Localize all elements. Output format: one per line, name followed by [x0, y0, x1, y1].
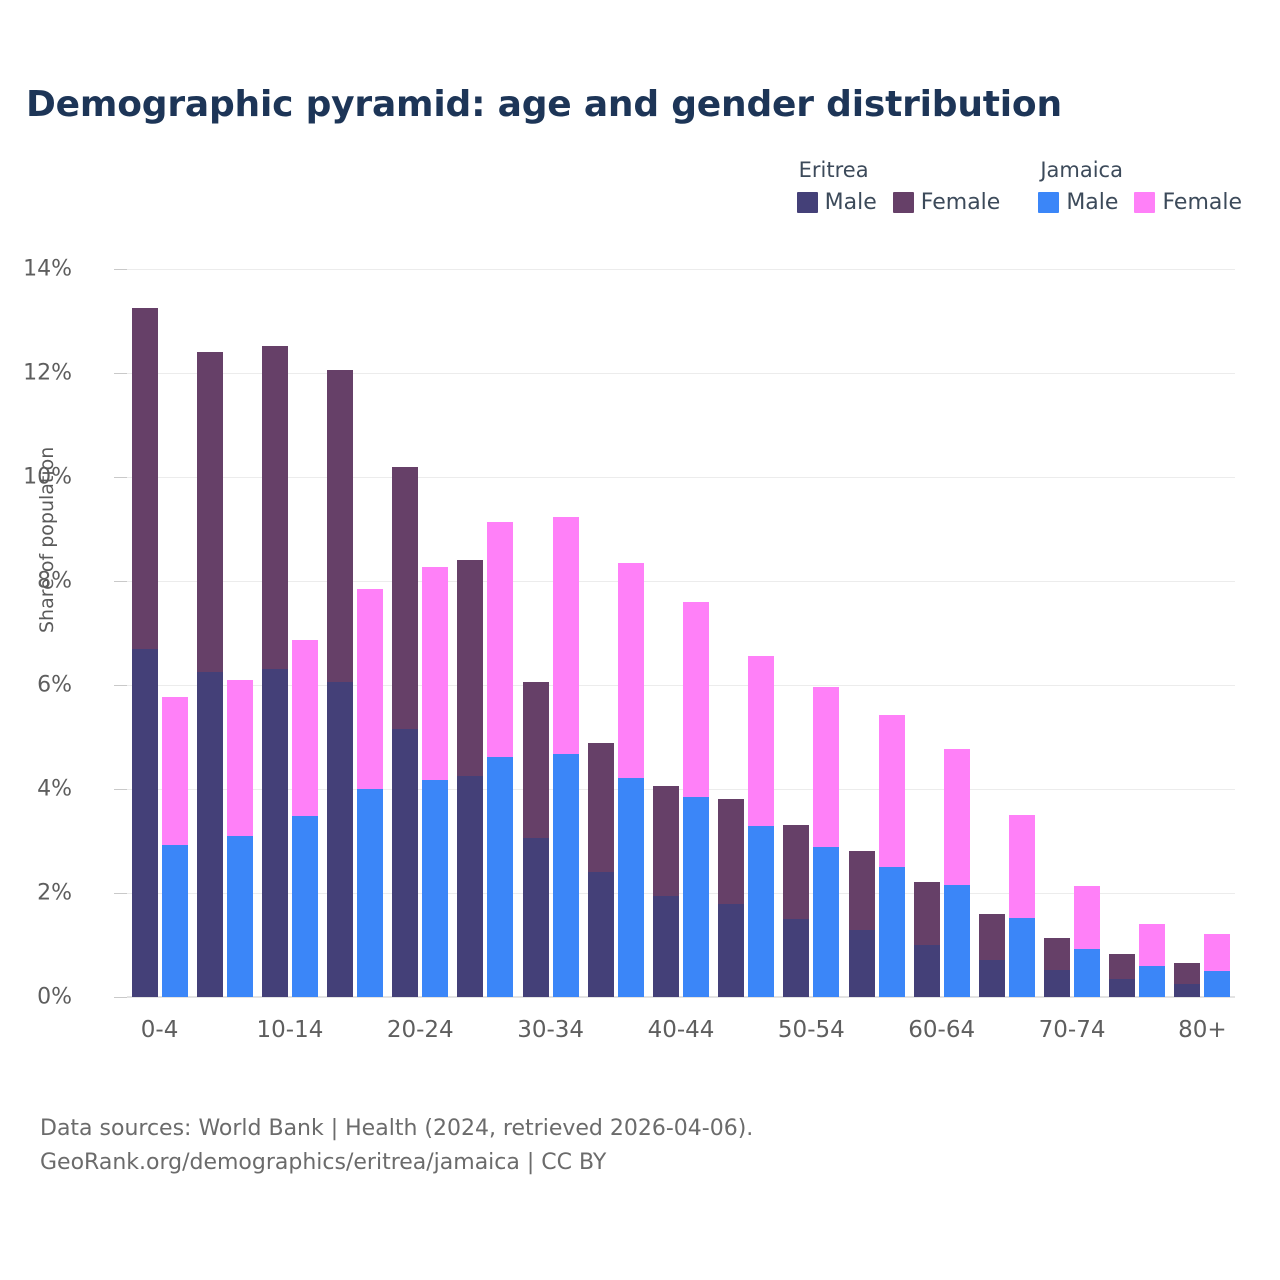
bar-jamaica[interactable] [748, 656, 774, 997]
bar-segment-male[interactable] [357, 789, 383, 997]
footer: Data sources: World Bank | Health (2024,… [40, 1112, 753, 1180]
bar-segment-female[interactable] [422, 567, 448, 779]
bar-segment-male[interactable] [457, 776, 483, 997]
y-tick-mark [114, 997, 127, 998]
x-tick-label: 80+ [1178, 1017, 1227, 1043]
bars-layer [127, 269, 1235, 997]
legend-item-eritrea-male[interactable]: Male [797, 190, 877, 215]
bar-jamaica[interactable] [357, 589, 383, 997]
legend-swatch-icon [893, 192, 914, 213]
bar-segment-male[interactable] [1009, 918, 1035, 997]
bar-segment-male[interactable] [653, 896, 679, 997]
legend-item-eritrea-female[interactable]: Female [893, 190, 1001, 215]
bar-jamaica[interactable] [1204, 934, 1230, 997]
y-tick-mark [114, 581, 127, 582]
bar-group [914, 269, 970, 997]
bar-segment-female[interactable] [683, 602, 709, 797]
bar-eritrea[interactable] [1174, 963, 1200, 997]
bar-segment-male[interactable] [292, 816, 318, 997]
legend-swatch-icon [1134, 192, 1155, 213]
footer-line-1: Data sources: World Bank | Health (2024,… [40, 1112, 753, 1146]
legend-item-jamaica-male[interactable]: Male [1038, 190, 1118, 215]
y-tick-mark [114, 269, 127, 270]
legend-item-jamaica-female[interactable]: Female [1134, 190, 1242, 215]
bar-group [523, 269, 579, 997]
bar-eritrea[interactable] [588, 743, 614, 997]
bar-segment-male[interactable] [618, 778, 644, 997]
bar-segment-female[interactable] [979, 914, 1005, 960]
bar-group [392, 269, 448, 997]
y-tick-mark [114, 685, 127, 686]
bar-jamaica[interactable] [618, 563, 644, 997]
bar-segment-male[interactable] [1174, 984, 1200, 997]
legend-country-label: Jamaica [1038, 158, 1123, 182]
bar-group [1044, 269, 1100, 997]
bar-group [718, 269, 774, 997]
bar-segment-female[interactable] [718, 799, 744, 904]
legend-group-jamaica: JamaicaMaleFemale [1038, 158, 1242, 215]
x-tick-label: 60-64 [908, 1017, 975, 1043]
bar-segment-female[interactable] [1074, 886, 1100, 949]
y-axis-title: Share of population [36, 447, 58, 633]
bar-segment-male[interactable] [813, 847, 839, 997]
x-tick-label: 50-54 [778, 1017, 845, 1043]
legend-swatch-icon [797, 192, 818, 213]
y-tick-mark [114, 477, 127, 478]
bar-jamaica[interactable] [162, 697, 188, 997]
bar-segment-female[interactable] [748, 656, 774, 827]
y-tick-mark [114, 893, 127, 894]
bar-segment-female[interactable] [132, 308, 158, 649]
bar-group [849, 269, 905, 997]
bar-eritrea[interactable] [197, 352, 223, 997]
bar-jamaica[interactable] [944, 749, 970, 997]
y-tick-mark [114, 789, 127, 790]
bar-segment-male[interactable] [262, 669, 288, 997]
bar-segment-female[interactable] [653, 786, 679, 895]
bar-segment-male[interactable] [422, 780, 448, 997]
bar-segment-female[interactable] [588, 743, 614, 872]
bar-group [783, 269, 839, 997]
x-tick-label: 70-74 [1039, 1017, 1106, 1043]
bar-eritrea[interactable] [262, 346, 288, 997]
bar-jamaica[interactable] [879, 715, 905, 997]
bar-group [197, 269, 253, 997]
bar-group [588, 269, 644, 997]
bar-segment-female[interactable] [783, 825, 809, 919]
legend-item-label: Male [1066, 190, 1118, 215]
bar-group [327, 269, 383, 997]
bar-group [653, 269, 709, 997]
bar-jamaica[interactable] [227, 680, 253, 997]
legend-swatch-icon [1038, 192, 1059, 213]
bar-jamaica[interactable] [1074, 886, 1100, 997]
bar-jamaica[interactable] [813, 687, 839, 997]
legend-item-label: Male [825, 190, 877, 215]
bar-segment-male[interactable] [487, 757, 513, 997]
bar-segment-male[interactable] [132, 649, 158, 997]
bar-eritrea[interactable] [783, 825, 809, 997]
bar-segment-female[interactable] [1174, 963, 1200, 984]
bar-jamaica[interactable] [487, 522, 513, 997]
bar-segment-male[interactable] [914, 945, 940, 997]
chart-legend: EritreaMaleFemaleJamaicaMaleFemale [797, 158, 1242, 215]
x-tick-label: 40-44 [648, 1017, 715, 1043]
bar-segment-female[interactable] [944, 749, 970, 885]
y-tick-label: 0% [37, 985, 72, 1010]
y-tick-label: 6% [37, 673, 72, 698]
bar-segment-female[interactable] [813, 687, 839, 847]
bar-group [1174, 269, 1230, 997]
footer-line-2: GeoRank.org/demographics/eritrea/jamaica… [40, 1146, 753, 1180]
bar-segment-male[interactable] [879, 867, 905, 997]
bar-segment-female[interactable] [327, 370, 353, 682]
bar-segment-female[interactable] [292, 640, 318, 816]
legend-item-label: Female [1162, 190, 1242, 215]
bar-segment-male[interactable] [162, 845, 188, 997]
bar-jamaica[interactable] [553, 517, 579, 997]
bar-eritrea[interactable] [914, 882, 940, 997]
bar-segment-male[interactable] [979, 960, 1005, 997]
bar-segment-male[interactable] [1139, 966, 1165, 997]
bar-segment-female[interactable] [197, 352, 223, 672]
bar-eritrea[interactable] [1044, 938, 1070, 997]
bar-eritrea[interactable] [1109, 954, 1135, 997]
bar-segment-female[interactable] [162, 697, 188, 845]
bar-jamaica[interactable] [683, 602, 709, 997]
bar-eritrea[interactable] [457, 560, 483, 997]
bar-segment-male[interactable] [1074, 949, 1100, 997]
bar-segment-female[interactable] [914, 882, 940, 945]
bar-jamaica[interactable] [1139, 924, 1165, 997]
bar-segment-male[interactable] [748, 826, 774, 997]
x-tick-label: 30-34 [517, 1017, 584, 1043]
bar-eritrea[interactable] [979, 914, 1005, 997]
legend-group-eritrea: EritreaMaleFemale [797, 158, 1001, 215]
bar-group [457, 269, 513, 997]
bar-segment-female[interactable] [392, 467, 418, 730]
bar-group [1109, 269, 1165, 997]
bar-segment-female[interactable] [1139, 924, 1165, 966]
bar-eritrea[interactable] [523, 682, 549, 997]
bar-segment-male[interactable] [849, 930, 875, 997]
bar-group [132, 269, 188, 997]
y-tick-label: 12% [23, 361, 72, 386]
legend-items: MaleFemale [1038, 190, 1242, 215]
bar-eritrea[interactable] [132, 308, 158, 997]
y-tick-label: 14% [23, 257, 72, 282]
bar-segment-male[interactable] [553, 754, 579, 997]
y-tick-mark [114, 373, 127, 374]
bar-segment-female[interactable] [618, 563, 644, 777]
bar-segment-female[interactable] [849, 851, 875, 930]
bar-segment-female[interactable] [487, 522, 513, 757]
bar-jamaica[interactable] [292, 640, 318, 997]
plot-area: 0%2%4%6%8%10%12%14% 0-410-1420-2430-3440… [127, 269, 1235, 997]
bar-eritrea[interactable] [327, 370, 353, 997]
bar-eritrea[interactable] [718, 799, 744, 997]
bar-eritrea[interactable] [849, 851, 875, 997]
bar-segment-male[interactable] [1204, 971, 1230, 997]
page-title: Demographic pyramid: age and gender dist… [26, 84, 1062, 125]
bar-segment-female[interactable] [1204, 934, 1230, 971]
bar-group [979, 269, 1035, 997]
x-tick-label: 10-14 [257, 1017, 324, 1043]
bar-eritrea[interactable] [392, 467, 418, 997]
bar-segment-female[interactable] [227, 680, 253, 836]
bar-segment-male[interactable] [718, 904, 744, 997]
bar-segment-male[interactable] [1109, 979, 1135, 997]
bar-segment-female[interactable] [553, 517, 579, 754]
bar-segment-male[interactable] [783, 919, 809, 997]
bar-segment-female[interactable] [1109, 954, 1135, 978]
bar-segment-male[interactable] [683, 797, 709, 997]
x-tick-label: 0-4 [141, 1017, 179, 1043]
bar-segment-male[interactable] [327, 682, 353, 997]
bar-segment-male[interactable] [523, 838, 549, 997]
bar-segment-male[interactable] [197, 672, 223, 997]
legend-items: MaleFemale [797, 190, 1001, 215]
bar-segment-male[interactable] [1044, 970, 1070, 997]
bar-jamaica[interactable] [422, 567, 448, 997]
bar-segment-female[interactable] [357, 589, 383, 789]
bar-segment-male[interactable] [944, 885, 970, 997]
bar-segment-male[interactable] [227, 836, 253, 997]
y-tick-label: 4% [37, 777, 72, 802]
bar-segment-male[interactable] [588, 872, 614, 997]
x-tick-label: 20-24 [387, 1017, 454, 1043]
bar-segment-female[interactable] [457, 560, 483, 776]
bar-eritrea[interactable] [653, 786, 679, 997]
bar-segment-female[interactable] [1044, 938, 1070, 970]
bar-segment-female[interactable] [523, 682, 549, 838]
bar-segment-male[interactable] [392, 729, 418, 997]
bar-segment-female[interactable] [1009, 815, 1035, 918]
y-tick-label: 2% [37, 881, 72, 906]
bar-jamaica[interactable] [1009, 815, 1035, 997]
legend-item-label: Female [921, 190, 1001, 215]
bar-group [262, 269, 318, 997]
bar-segment-female[interactable] [262, 346, 288, 669]
chart-page: Demographic pyramid: age and gender dist… [0, 0, 1280, 1280]
bar-segment-female[interactable] [879, 715, 905, 867]
legend-country-label: Eritrea [797, 158, 869, 182]
